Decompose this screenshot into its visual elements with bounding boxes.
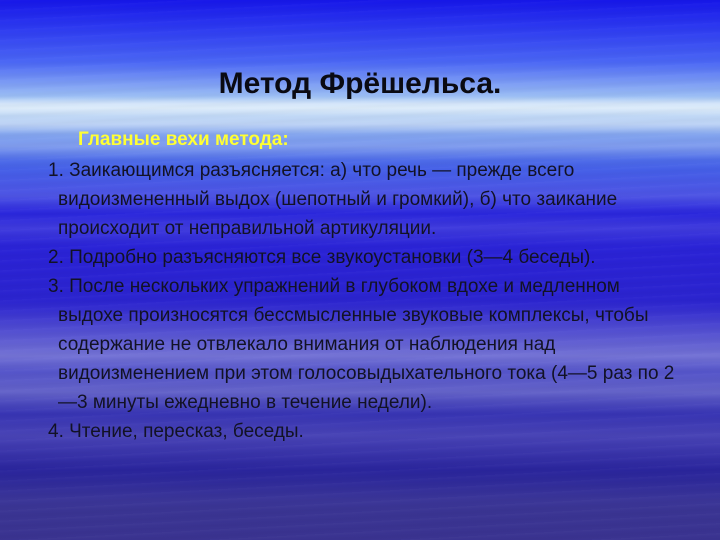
body-paragraph-4: 4. Чтение, пересказ, беседы. xyxy=(40,417,684,446)
body-paragraph-3: 3. После нескольких упражнений в глубоко… xyxy=(40,272,684,417)
presentation-slide: Метод Фрёшельса. Главные вехи метода: 1.… xyxy=(0,0,720,540)
body-kicker-heading: Главные вехи метода: xyxy=(78,126,684,153)
slide-title: Метод Фрёшельса. xyxy=(0,66,720,102)
body-paragraph-2: 2. Подробно разъясняются все звукоустано… xyxy=(40,243,684,272)
slide-body: Главные вехи метода: 1. Заикающимся разъ… xyxy=(40,126,684,446)
body-paragraph-1: 1. Заикающимся разъясняется: а) что речь… xyxy=(40,156,684,243)
